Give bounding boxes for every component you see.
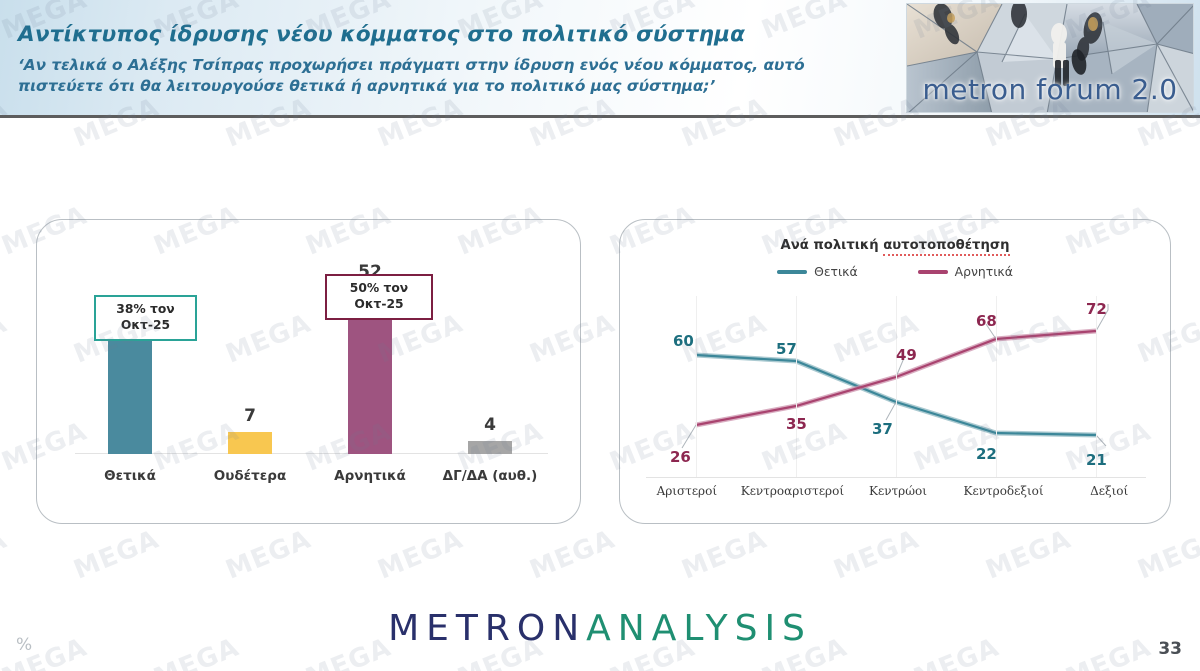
metron-analysis-brand: METRONANALYSIS (0, 608, 1200, 649)
logo-wordmark: metron forum 2.0 (907, 73, 1193, 106)
slide-root: Αντίκτυπος ίδρυσης νέου κόμματος στο πολ… (0, 0, 1200, 671)
bar-category-3: ΔΓ/ΔΑ (αυθ.) (425, 468, 555, 484)
brand-analysis: ANALYSIS (586, 608, 812, 649)
page-number: 33 (1158, 639, 1182, 659)
bar-category-2: Αρνητικά (305, 468, 435, 484)
legend-item-positive: Θετικά (777, 264, 858, 279)
watermark-text: MEGA (222, 524, 316, 585)
bar-value-3: 4 (435, 415, 545, 435)
line-chart-axis (646, 477, 1146, 478)
point-label-pos-3: 22 (976, 445, 997, 463)
watermark-text: MEGA (0, 308, 11, 369)
callout-positive-oct25: 38% τον Οκτ-25 (94, 295, 197, 341)
point-label-neg-1: 35 (786, 415, 807, 433)
line-category-1: Κεντροαριστεροί (740, 484, 846, 498)
gridline-1 (796, 296, 797, 478)
point-label-neg-0: 26 (670, 448, 691, 466)
watermark-text: MEGA (70, 524, 164, 585)
legend-item-negative: Αρνητικά (918, 264, 1013, 279)
brand-metron: METRON (388, 608, 586, 649)
page-subtitle: ‘Αν τελικά ο Αλέξης Τσίπρας προχωρήσει π… (18, 55, 888, 97)
bar-chart-card: 37 Θετικά 7 Ουδέτερα 52 Αρνητικά 4 ΔΓ/ΔΑ… (36, 219, 581, 524)
bar-rect-0 (108, 336, 152, 454)
point-label-neg-2: 49 (896, 346, 917, 364)
line-chart-title: Ανά πολιτική αυτοτοποθέτηση (620, 238, 1170, 253)
line-category-3: Κεντροδεξιοί (951, 484, 1057, 498)
point-label-neg-3: 68 (976, 312, 997, 330)
legend-swatch-negative-icon (918, 270, 948, 274)
line-category-4: Δεξιοί (1056, 484, 1162, 498)
watermark-text: MEGA (374, 524, 468, 585)
point-label-neg-4: 72 (1086, 300, 1107, 318)
callout-negative-oct25: 50% τον Οκτ-25 (325, 274, 433, 320)
bar-value-1: 7 (195, 406, 305, 426)
bar-category-1: Ουδέτερα (185, 468, 315, 484)
line-chart-category-axis: Αριστεροί Κεντροαριστεροί Κεντρώοι Κεντρ… (634, 484, 1162, 498)
bar-chart-plot: 37 Θετικά 7 Ουδέτερα 52 Αρνητικά 4 ΔΓ/ΔΑ… (57, 232, 562, 512)
gridline-0 (696, 296, 697, 478)
watermark-text: MEGA (1134, 524, 1200, 585)
bar-rect-3 (468, 441, 512, 454)
line-chart-title-plain: Ανά πολιτική (781, 238, 884, 253)
legend-swatch-positive-icon (777, 270, 807, 274)
bar-rect-1 (228, 432, 272, 454)
watermark-text: MEGA (982, 524, 1076, 585)
line-chart-legend: Θετικά Αρνητικά (620, 264, 1170, 279)
page-title: Αντίκτυπος ίδρυσης νέου κόμματος στο πολ… (18, 22, 888, 49)
point-label-pos-1: 57 (776, 340, 797, 358)
point-label-pos-4: 21 (1086, 451, 1107, 469)
line-category-0: Αριστεροί (634, 484, 740, 498)
header-text-block: Αντίκτυπος ίδρυσης νέου κόμματος στο πολ… (18, 22, 888, 97)
line-chart-card: Ανά πολιτική αυτοτοποθέτηση Θετικά Αρνητ… (619, 219, 1171, 524)
legend-label-positive: Θετικά (814, 264, 858, 279)
gridline-2 (896, 296, 897, 478)
watermark-text: MEGA (830, 524, 924, 585)
point-label-pos-0: 60 (673, 332, 694, 350)
metron-forum-logo: metron forum 2.0 (906, 3, 1194, 113)
point-label-pos-2: 37 (872, 420, 893, 438)
watermark-text: MEGA (526, 524, 620, 585)
percent-unit-label: % (16, 635, 32, 655)
watermark-text: MEGA (0, 524, 11, 585)
slide-header: Αντίκτυπος ίδρυσης νέου κόμματος στο πολ… (0, 0, 1200, 118)
line-category-2: Κεντρώοι (845, 484, 951, 498)
line-chart-title-flagged: αυτοτοποθέτηση (883, 238, 1009, 256)
line-chart-plot: 60 57 37 22 21 26 35 49 68 72 (646, 296, 1146, 478)
watermark-text: MEGA (678, 524, 772, 585)
bar-category-0: Θετικά (65, 468, 195, 484)
legend-label-negative: Αρνητικά (955, 264, 1013, 279)
